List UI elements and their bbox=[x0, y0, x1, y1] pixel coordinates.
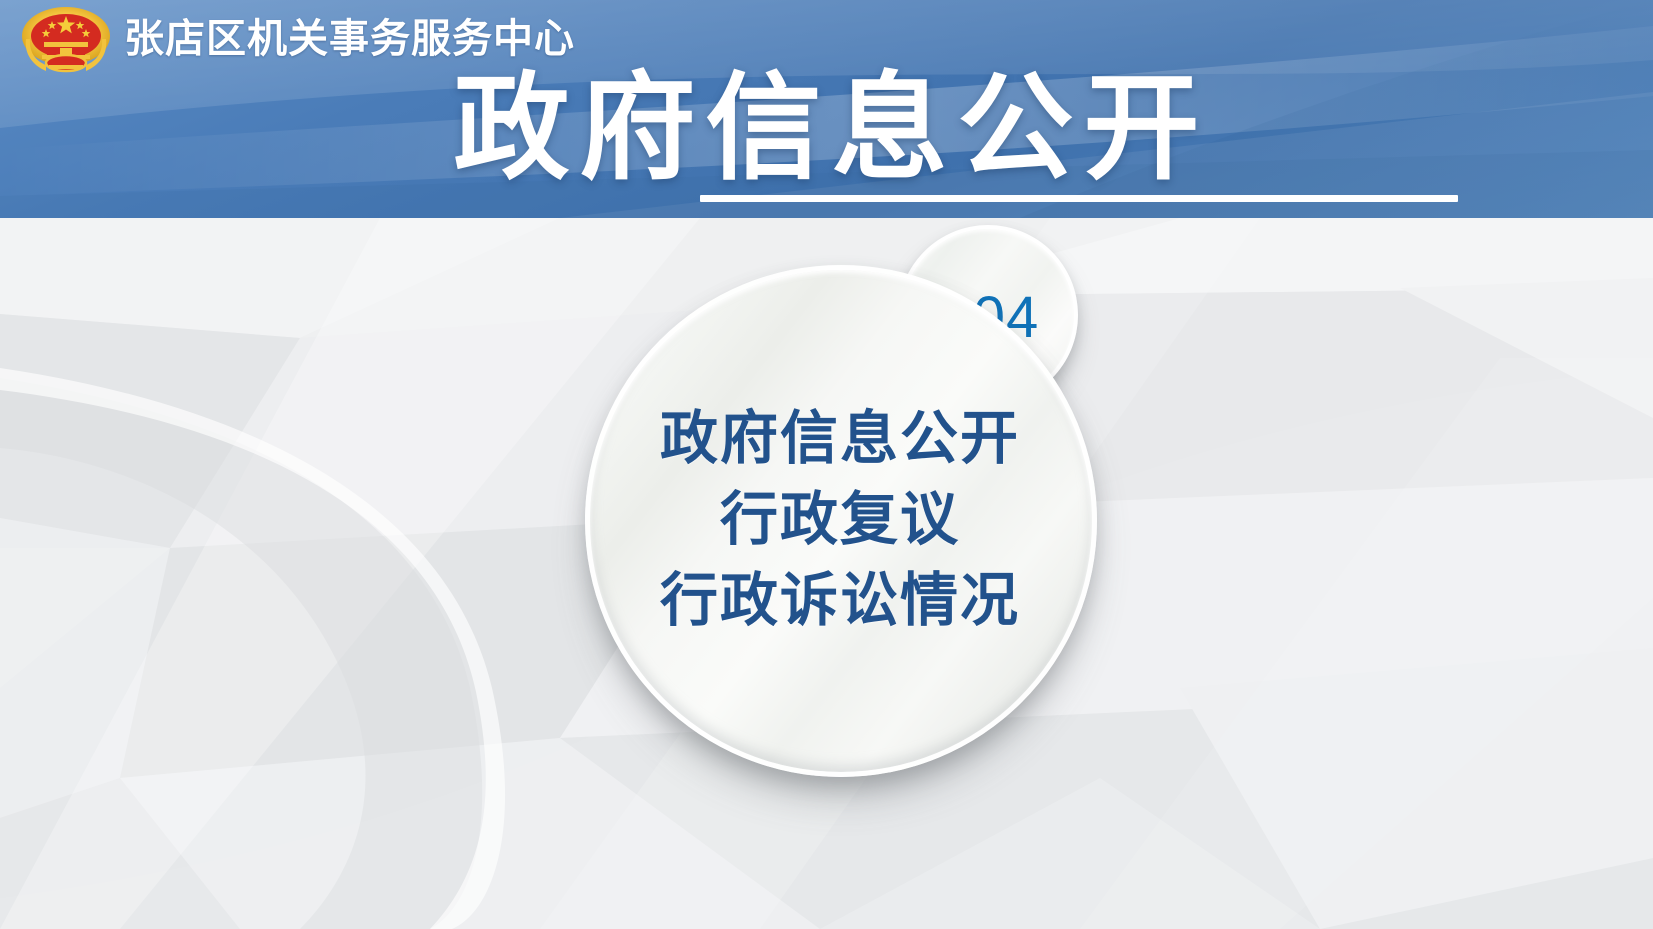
section-heading-line-1: 政府信息公开 bbox=[560, 398, 1120, 479]
section-heading: 政府信息公开 行政复议 行政诉讼情况 bbox=[560, 398, 1120, 641]
content-stage: 04 政府信息公开 行政复议 行政诉讼情况 bbox=[0, 218, 1653, 929]
slide-root: 张店区机关事务服务中心 政府信息公开 bbox=[0, 0, 1653, 929]
section-heading-line-3: 行政诉讼情况 bbox=[560, 560, 1120, 641]
national-emblem-icon bbox=[16, 3, 116, 77]
section-heading-line-2: 行政复议 bbox=[560, 479, 1120, 560]
organization-name: 张店区机关事务服务中心 bbox=[124, 10, 575, 68]
header-banner: 张店区机关事务服务中心 政府信息公开 bbox=[0, 0, 1653, 218]
title-underline bbox=[700, 195, 1458, 202]
page-title: 政府信息公开 bbox=[0, 68, 1653, 188]
